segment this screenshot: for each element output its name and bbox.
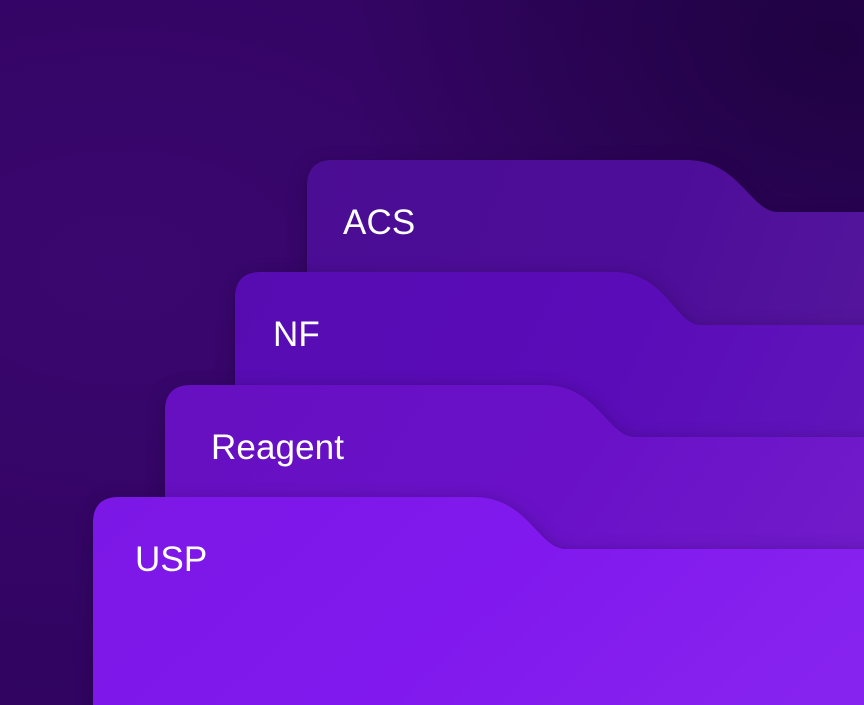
card-label-acs: ACS [343, 205, 415, 240]
card-label-reagent: Reagent [211, 430, 344, 465]
card-usp[interactable] [93, 497, 864, 705]
card-label-usp: USP [135, 542, 207, 577]
grade-stack-canvas: ACSNFReagentUSP [0, 0, 864, 705]
card-stack: ACSNFReagentUSP [0, 0, 864, 705]
card-label-nf: NF [273, 317, 320, 352]
card-shape-usp [0, 0, 864, 705]
